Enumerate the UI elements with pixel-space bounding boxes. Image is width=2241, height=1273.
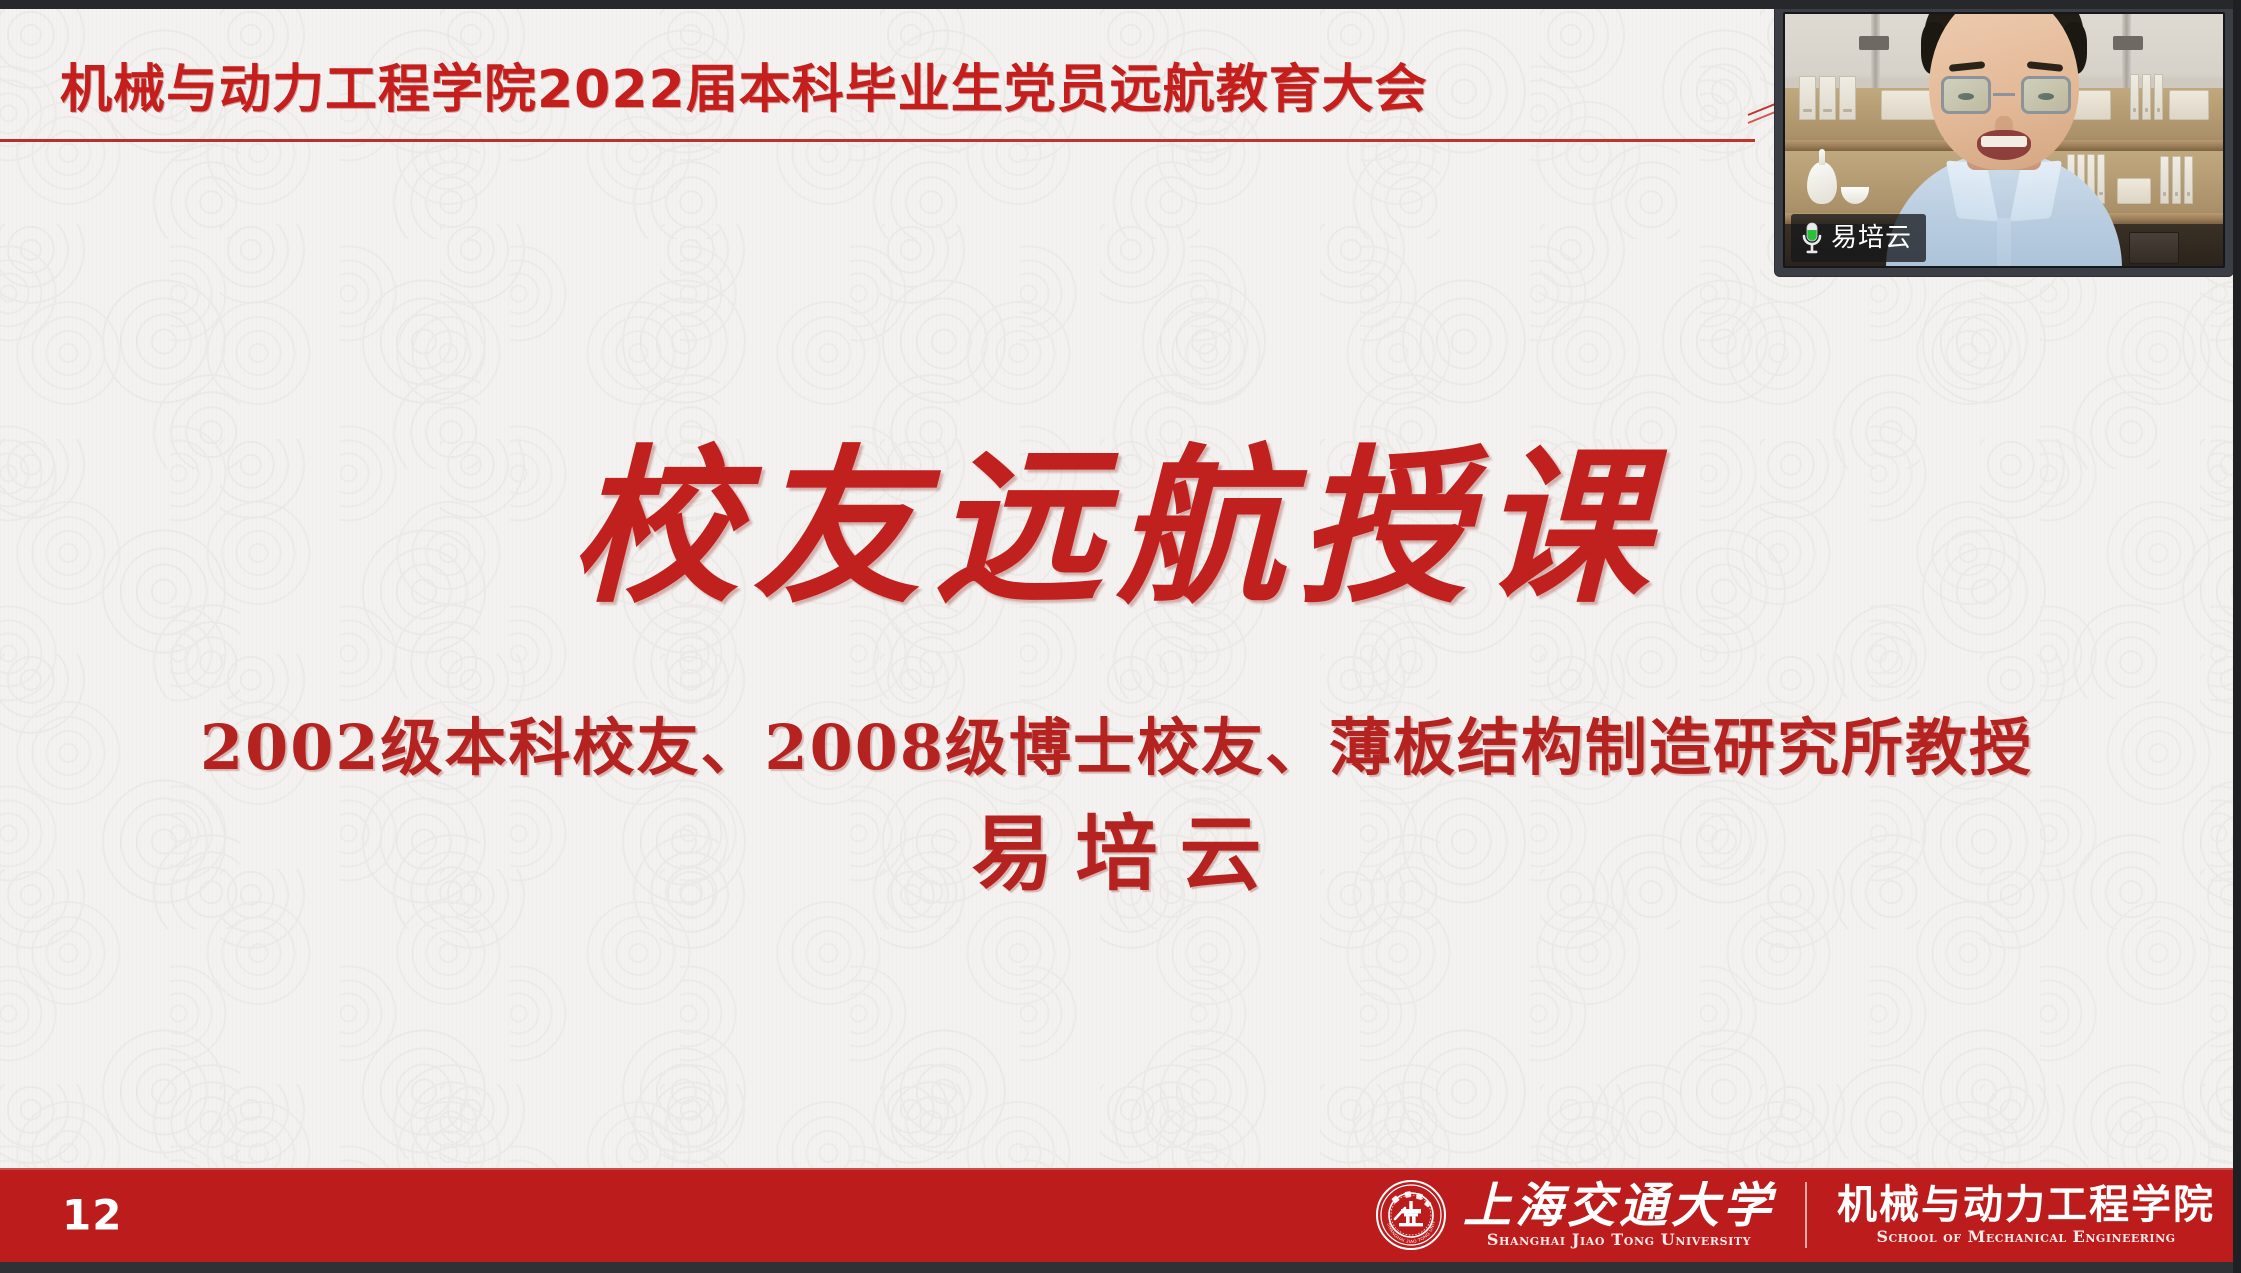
university-name-block: 上海交通大学 Shanghai Jiao Tong University xyxy=(1463,1182,1775,1248)
university-name-en: Shanghai Jiao Tong University xyxy=(1487,1232,1751,1248)
slide-speaker-name: 易培云 xyxy=(0,787,2233,906)
slide-header-title: 机械与动力工程学院2022届本科毕业生党员远航教育大会 xyxy=(60,47,1428,122)
window-right-chrome xyxy=(2233,0,2241,1273)
screen: 机械与动力工程学院2022届本科毕业生党员远航教育大会 校友远航授课 2002级… xyxy=(0,0,2241,1273)
teeth xyxy=(1981,136,2026,147)
eyeglasses-lens-right xyxy=(2021,76,2071,114)
school-name-block: 机械与动力工程学院 School of Mechanical Engineeri… xyxy=(1837,1185,2215,1245)
microphone-icon[interactable] xyxy=(1799,221,1825,255)
eyeglasses-lens-left xyxy=(1941,76,1991,114)
brand-divider xyxy=(1805,1182,1807,1248)
window-bottom-chrome xyxy=(0,1262,2233,1273)
slide-subtitle: 2002级本科校友、2008级博士校友、薄板结构制造研究所教授 xyxy=(0,697,2233,787)
video-frame: 易培云 xyxy=(1783,12,2225,268)
mouth xyxy=(1977,130,2031,160)
university-name-cn: 上海交通大学 xyxy=(1463,1182,1775,1230)
footer-brand-lockup: SHANGHAI JIAO TONG UNIVERSITY 上海交通大学 Sha… xyxy=(1375,1179,2215,1251)
sjtu-seal-icon: SHANGHAI JIAO TONG UNIVERSITY xyxy=(1375,1179,1447,1251)
slide-footer: 12 xyxy=(0,1168,2233,1262)
header-underline xyxy=(0,139,1755,142)
slide-main-title: 校友远航授课 xyxy=(0,439,2233,615)
shirt-placket xyxy=(1997,218,2011,268)
window-top-chrome xyxy=(0,0,2233,9)
participant-video-tile[interactable]: 易培云 xyxy=(1775,4,2233,276)
participant-name-badge: 易培云 xyxy=(1791,214,1926,262)
school-name-cn: 机械与动力工程学院 xyxy=(1837,1185,2215,1225)
slide-page-number: 12 xyxy=(62,1191,122,1240)
eyeglasses-bridge xyxy=(1993,93,2015,96)
participant-name-label: 易培云 xyxy=(1831,225,1912,251)
school-name-en: School of Mechanical Engineering xyxy=(1876,1229,2175,1245)
